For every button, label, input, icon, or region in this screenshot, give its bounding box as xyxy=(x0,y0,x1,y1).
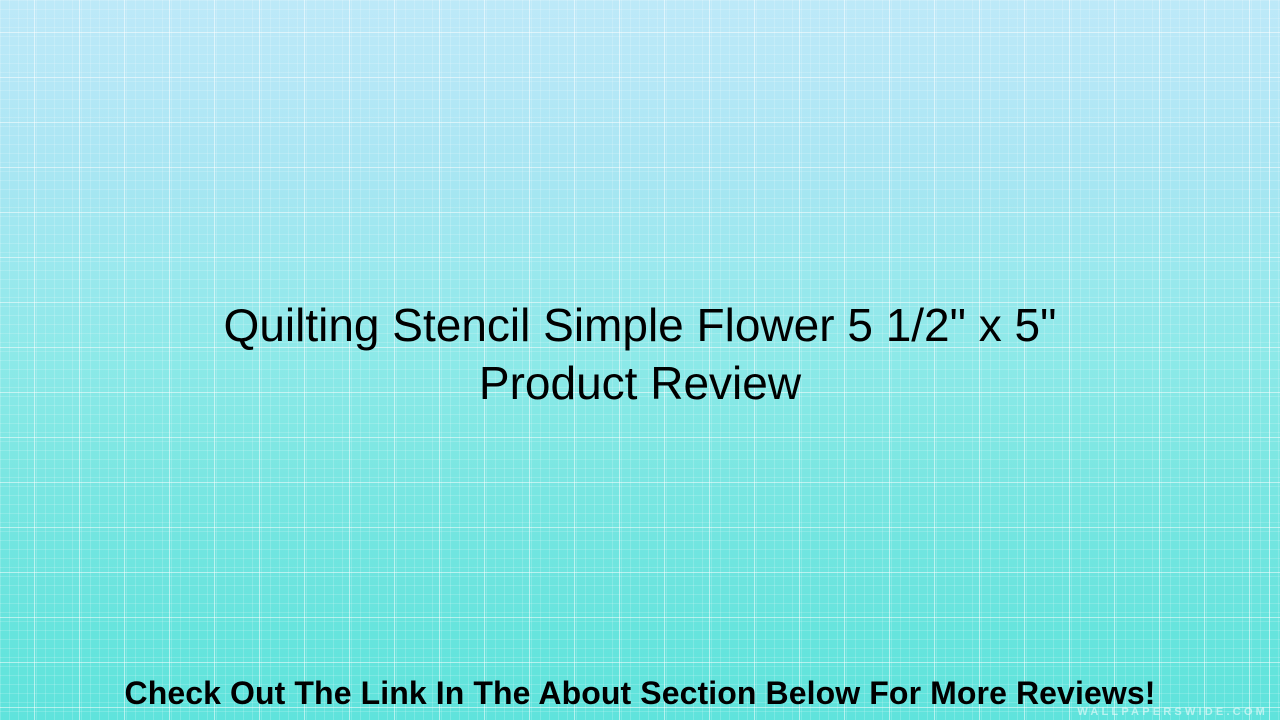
grid-minor-lines xyxy=(0,0,1280,720)
page-title: Quilting Stencil Simple Flower 5 1/2" x … xyxy=(0,296,1280,412)
page-title-line-1: Quilting Stencil Simple Flower 5 1/2" x … xyxy=(0,296,1280,354)
review-poster: Quilting Stencil Simple Flower 5 1/2" x … xyxy=(0,0,1280,720)
call-to-action-banner: Check Out The Link In The About Section … xyxy=(0,675,1280,712)
grid-major-lines xyxy=(0,0,1280,720)
page-title-line-2: Product Review xyxy=(0,354,1280,412)
call-to-action-text: Check Out The Link In The About Section … xyxy=(124,675,1155,712)
